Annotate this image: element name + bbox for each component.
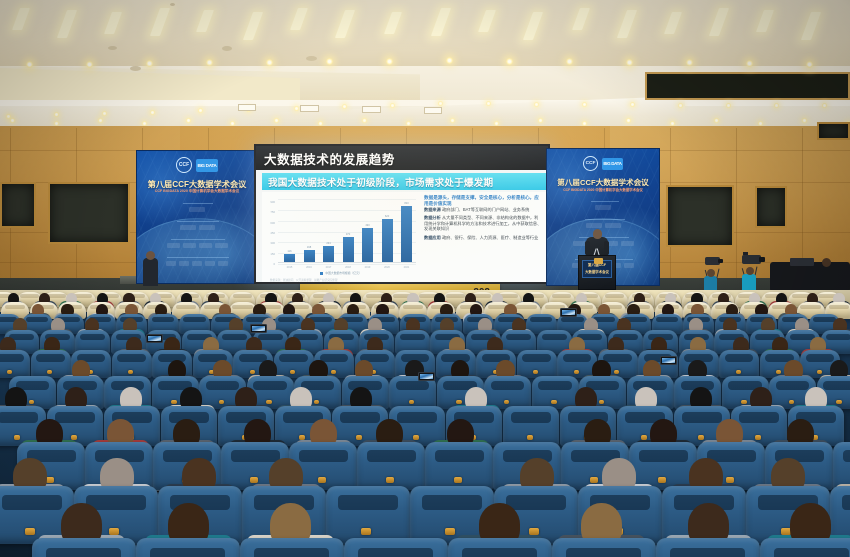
av-operator-head [822,258,831,267]
slide-lead-text: 数据是源头，存储是支撑，安全是核心，分析是核心，应用是价值实现 [424,195,542,207]
audience-smartphone[interactable] [250,324,267,333]
audience-smartphone[interactable] [660,356,677,365]
seat-number-plaque [445,528,455,536]
sponsor-logo-icon [605,223,621,228]
chart-y-tick: 150 [270,252,275,256]
auditorium-seat[interactable] [274,350,314,378]
seat-back-gap [20,294,39,298]
seat-back-gap [150,548,225,557]
auditorium-seat[interactable] [136,538,240,557]
av-control-desk [770,262,850,292]
seat-back-gap [367,450,416,462]
seat-number-plaque [789,400,795,404]
seat-back-gap [605,294,624,298]
seat-number-plaque [128,370,133,374]
seat-number-plaque [7,370,12,374]
chart-x-tick: 2016 [306,266,312,269]
sponsor-logo-icon [189,207,205,212]
chart-bar-value: 820 [404,202,408,205]
ceiling-downlight [450,118,455,123]
seat-back-gap [279,354,308,361]
seat-back-gap [506,334,531,340]
chart-x-axis [278,262,416,263]
chart-y-axis: 9007506004503001500 [262,200,276,262]
seat-number-plaque [817,370,822,374]
ceiling-access-panel [238,104,256,111]
sponsor-row [142,207,252,212]
audience-smartphone[interactable] [418,372,435,381]
banner-right-subtitle: CCF BIGDATA 2020 中国计算机学会大数据学术会议 [547,187,659,192]
seat-back-gap [26,317,48,322]
camera-lens-icon [718,259,723,263]
slide-text-block: 数据分析 从大量不同类型、不同来源、非结构化的数据中，利用统计学和计算机科学的方… [424,215,542,231]
chart-bar-value: 234 [326,242,330,245]
speaker-head [593,229,602,239]
seat-back-gap [422,495,483,510]
sponsor-logo-icon [199,225,215,230]
chart-bar: 620 [382,219,393,262]
av-monitor [790,258,814,266]
chart-legend: 中国大数据市场规模（亿元） [262,271,420,275]
ceiling-downlight [186,118,191,123]
ceiling-vent-icon [222,46,232,51]
ceiling-downlight [10,118,15,123]
seat-back-gap [682,412,722,422]
seat-back-gap [639,450,688,462]
slide-block-key: 数据来源 [424,207,441,212]
slide-title: 大数据技术的发展趋势 [256,149,395,168]
camera-operator-head [707,269,715,277]
seat-number-plaque [456,400,462,404]
seat-number-plaque [318,477,326,483]
ceiling-access-panel [362,106,381,113]
chart-bars: 116168234370490620820 [278,200,416,262]
slide-text-column: 数据是源头，存储是支撑，安全是核心，分析是核心，应用是价值实现 数据来源 政府部… [420,192,546,282]
speaker-arm [604,241,609,255]
chart-bar-value: 370 [346,233,350,236]
seat-back-gap [2,495,63,510]
seat-number-plaque [71,435,78,440]
seat-back-gap [36,354,65,361]
wall-dark-panel [0,182,36,228]
chart-y-tick: 450 [270,231,275,235]
seat-back-gap [254,548,329,557]
seat-number-plaque [551,400,557,404]
chart-y-tick: 600 [270,221,275,225]
seat-back-gap [340,412,380,422]
seat-back-gap [563,354,592,361]
seat-number-plaque [454,477,462,483]
seat-back-gap [176,305,196,309]
seat-back-gap [46,548,121,557]
ceiling-downlight [446,57,453,64]
chart-x-tick: 2019 [365,266,371,269]
seat-back-gap [231,450,280,462]
seat-back-gap [826,334,850,340]
sponsor-row [142,225,252,230]
seat-number-plaque [755,435,762,440]
seat-back-gap [522,354,551,361]
seat-back-gap [843,450,850,462]
slide-text-block: 数据来源 政府部门、BAT等互联网的门户网站、业务系统 [424,207,542,212]
sponsor-logo-icon [573,241,586,246]
chart-x-tick: 2015 [287,266,293,269]
chart-y-tick: 300 [270,241,275,245]
ceiling-downlight [146,60,153,67]
seat-number-plaque [314,400,320,404]
ceiling-downlight [294,106,299,111]
banner-divider [591,201,619,202]
seat-number-plaque [250,370,255,374]
seat-back-gap [55,412,95,422]
phone-screen [562,310,575,315]
sponsor-logo-icon [205,261,215,266]
slide-subtitle-bar: 我国大数据技术处于初级阶段，市场需求处于爆发期 [262,173,546,190]
seat-back-gap [842,495,850,510]
seat-back-gap [222,334,247,340]
sponsor-logo-icon [166,261,176,266]
seat-number-plaque [741,400,747,404]
seat-back-gap [0,354,24,361]
slide-text-block: 数据应用 政府、银行、保险、人力资源、医疗、制造业等行业 [424,235,542,240]
sponsor-row [551,205,654,210]
speaker-lectern: 第八届CCF 大数据学术会议 [578,255,616,290]
banner-divider [167,257,229,258]
stage-staff-torso [143,258,158,286]
audience-smartphone[interactable] [560,308,577,317]
seat-number-plaque [527,435,534,440]
seat-number-plaque [46,477,54,483]
sponsor-row [142,243,252,248]
seat-number-plaque [641,435,648,440]
ceiling-downlight [86,61,93,68]
sponsor-logo-icon [199,243,212,248]
ceiling-access-panel [424,107,442,114]
sponsor-logo-icon [595,205,611,210]
seat-number-plaque [331,370,336,374]
seat-back-gap [435,450,484,462]
auditorium-seat[interactable] [0,350,30,378]
seat-number-plaque [266,400,272,404]
seat-back-gap [725,354,754,361]
auditorium-seat[interactable] [557,350,597,378]
sponsor-logo-icon [180,225,196,230]
auditorium-seat[interactable] [240,538,344,557]
chart-bar: 234 [323,246,334,262]
ceiling-vent-icon [170,3,175,6]
seat-number-plaque [698,435,705,440]
seat-number-plaque [171,400,177,404]
ceiling-downlight [98,118,103,123]
auditorium-seat[interactable] [719,350,759,378]
ceiling-vent-icon [130,66,141,71]
seat-back-gap [538,381,572,390]
auditorium-seat[interactable] [344,538,448,557]
seat-back-gap [566,548,641,557]
auditorium-seat[interactable] [656,538,760,557]
sponsor-logo-icon [218,261,228,266]
camera-lens-icon [759,257,765,262]
seat-back-gap [516,305,536,309]
ceiling-downlight [678,103,683,108]
seat-back-gap [813,317,835,322]
ccf-logo-icon: CCF [583,156,598,171]
seat-number-plaque [504,400,510,404]
seat-back-gap [506,495,567,510]
seat-back-gap [542,334,567,340]
sponsor-row [551,223,654,228]
lectern-logo-icon [594,258,603,264]
camera-viewfinder-icon [743,252,748,255]
seat-number-plaque [299,435,306,440]
auditorium-seat[interactable] [448,538,552,557]
bigdata-logo-icon: BIG DATA [196,159,218,172]
sponsor-logo-icon [586,223,602,228]
auditorium-seat[interactable] [833,442,850,490]
ceiling-beam-edge [0,100,850,106]
chart-bar-value: 490 [365,224,369,227]
sponsor-logo-icon [179,261,189,266]
seat-back-gap [396,381,430,390]
seat-number-plaque [47,370,52,374]
ceiling-downlight [582,102,587,107]
seat-number-plaque [590,477,598,483]
seat-back-gap [253,381,287,390]
seat-back-gap [403,305,423,309]
ccf-logo-icon: CCF [176,157,192,173]
seat-back-gap [561,317,583,322]
seat-back-gap [670,548,745,557]
seat-number-plaque [219,400,225,404]
seat-back-gap [656,317,678,322]
seat-back-gap [299,450,348,462]
auditorium-seat[interactable] [629,442,697,490]
chart-bar-value: 620 [385,215,389,218]
slide-title-bar: 大数据技术的发展趋势 [256,146,548,170]
wall-monitor-panel [666,185,734,247]
slide-block-key: 数据应用 [424,235,441,240]
ceiling-downlight [274,118,279,123]
chart-bar-value: 116 [287,250,291,253]
phone-screen [252,326,265,331]
ceiling-dark-slot [645,72,850,100]
sponsor-logo-icon [215,243,228,248]
slide-bar-chart: 9007506004503001500 11616823437049062082… [262,192,420,282]
sponsor-logo-icon [167,243,180,248]
seat-back-gap [462,548,537,557]
ceiling-downlight [726,103,731,108]
banner-divider [585,219,625,220]
sponsor-logo-icon [624,263,634,268]
speaker-arm [585,241,590,255]
auditorium-seat[interactable] [112,350,152,378]
seat-back-gap [800,305,820,309]
seat-back-gap [117,354,146,361]
seat-back-gap [806,354,835,361]
seat-number-plaque [529,528,539,536]
auditorium-seat[interactable] [760,538,850,557]
ceiling-downlight [506,58,513,65]
seat-back-gap [233,294,252,298]
banner-divider [171,239,225,240]
ceiling-downlight [806,61,813,68]
seat-back-gap [776,381,810,390]
ceiling-downlight [534,102,539,107]
seat-back-gap [823,381,850,390]
slide-body: 9007506004503001500 11616823437049062082… [262,192,546,282]
chart-x-tick: 2018 [345,266,351,269]
seat-back-gap [183,317,205,322]
seat-number-plaque [574,370,579,374]
seat-back-gap [397,412,437,422]
chart-bar-value: 168 [307,246,311,249]
lectern-plate-line2: 大数据学术会议 [583,269,611,274]
seat-number-plaque [776,370,781,374]
seat-number-plaque [250,477,258,483]
seat-back-gap [511,412,551,422]
seat-number-plaque [533,370,538,374]
chart-y-tick: 0 [273,262,275,266]
seat-back-gap [530,317,552,322]
seat-back-gap [400,334,425,340]
seat-number-plaque [109,528,119,536]
slide-block-key: 数据分析 [424,215,441,220]
auditorium-seat[interactable] [357,442,425,490]
auditorium-seat[interactable] [32,538,136,557]
chart-bar: 168 [304,250,315,262]
seat-number-plaque [14,435,21,440]
auditorium-seat[interactable] [517,350,557,378]
ceiling-downlight [746,60,753,67]
sponsor-row [142,261,252,266]
audience-smartphone[interactable] [146,334,163,343]
chart-y-tick: 900 [270,200,275,204]
seat-back-gap [278,317,300,322]
slide-block-text: 政府部门、BAT等互联网的门户网站、业务系统 [442,207,529,212]
chart-legend-label: 中国大数据市场规模（亿元） [325,271,361,275]
seat-number-plaque [658,477,666,483]
ceiling-downlight [714,118,719,123]
auditorium-seat[interactable] [503,406,559,446]
chart-x-tick: 2021 [404,266,410,269]
seat-number-plaque [614,370,619,374]
sponsor-logo-icon [192,261,202,266]
seat-number-plaque [836,400,842,404]
banner-divider [177,221,219,222]
wall-control-window [817,122,850,140]
auditorium-seat[interactable] [425,442,493,490]
auditorium-seat[interactable] [552,538,656,557]
seat-number-plaque [361,528,371,536]
chart-gridline [278,264,416,265]
chart-x-tick: 2017 [326,266,332,269]
seat-number-plaque [356,435,363,440]
seat-back-gap [829,305,849,309]
seat-back-gap [552,294,571,298]
banner-divider [183,203,213,204]
seat-back-gap [774,548,849,557]
chart-source-note: 数据来源：赛迪顾问、公开资料整理、前瞻产业研究院整理 [270,278,418,282]
ceiling-downlight [386,58,393,65]
ceiling-downlight [266,59,273,66]
seat-back-gap [491,381,525,390]
seat-back-gap [232,305,252,309]
sponsor-logo-icon [183,243,196,248]
seat-back-gap [0,412,38,422]
chart-x-tick: 2020 [384,266,390,269]
seat-back-gap [739,412,779,422]
seat-number-plaque [736,370,741,374]
auditorium-seat[interactable] [31,350,71,378]
seat-number-plaque [599,400,605,404]
slide-subtitle: 我国大数据技术处于初级阶段，市场需求处于爆发期 [262,175,493,189]
chart-bar: 116 [284,254,295,262]
wall-dark-panel [755,186,787,228]
chart-y-tick: 750 [270,210,275,214]
stage-staff-head [146,251,155,260]
seat-number-plaque [29,400,35,404]
seat-back-gap [338,495,399,510]
seat-back-gap [358,548,433,557]
seat-number-plaque [413,435,420,440]
seat-back-gap [206,381,240,390]
seat-back-gap [5,305,25,309]
chart-legend-swatch [320,272,323,275]
auditorium-seat[interactable] [326,486,410,544]
banner-left-subtitle: CCF BIGDATA 2020 中国计算机学会大数据学术会议 [137,189,257,194]
camera-operator-head [746,267,754,275]
ceiling-vent-icon [108,46,117,50]
slide-block-text: 政府、银行、保险、人力资源、医疗、制造业等行业 [442,235,538,240]
seat-back-gap [80,334,105,340]
seat-number-plaque [386,477,394,483]
ceiling-downlight [626,118,631,123]
ceiling-downlight [362,118,367,123]
auditorium-photo: CCF BIG DATA 第八届CCF大数据学术会议 CCF BIGDATA 2… [0,0,850,557]
wall-monitor-panel [48,182,130,244]
ceiling-downlight [150,110,155,115]
ceiling-vent-icon [306,56,317,61]
seat-back-gap [446,294,465,298]
ceiling-downlight [802,118,807,123]
projection-screen: 大数据技术的发展趋势 我国大数据技术处于初级阶段，市场需求处于爆发期 90075… [254,144,550,284]
seat-number-plaque [290,370,295,374]
seat-back-gap [258,334,283,340]
bigdata-logo-icon: BIG DATA [602,158,623,170]
slide-block-text: 从大量不同类型、不同来源、非结构化的数据中，利用统计学和计算机科学的方法和技术进… [424,215,541,231]
seat-back-gap [152,317,174,322]
ceiling-downlight [626,59,633,66]
chart-bar: 370 [343,237,354,262]
sponsor-logo-icon [621,241,634,246]
phone-screen [662,358,675,363]
chart-bar: 490 [362,228,373,262]
ceiling-downlight [538,118,543,123]
audience-seating [0,290,850,557]
seat-number-plaque [409,400,415,404]
chart-bar: 820 [401,206,412,262]
phone-screen [148,336,161,341]
ceiling-access-panel [300,105,319,112]
seat-back-gap [603,354,632,361]
seat-number-plaque [25,528,35,536]
phone-screen [420,374,433,379]
seat-number-plaque [726,477,734,483]
